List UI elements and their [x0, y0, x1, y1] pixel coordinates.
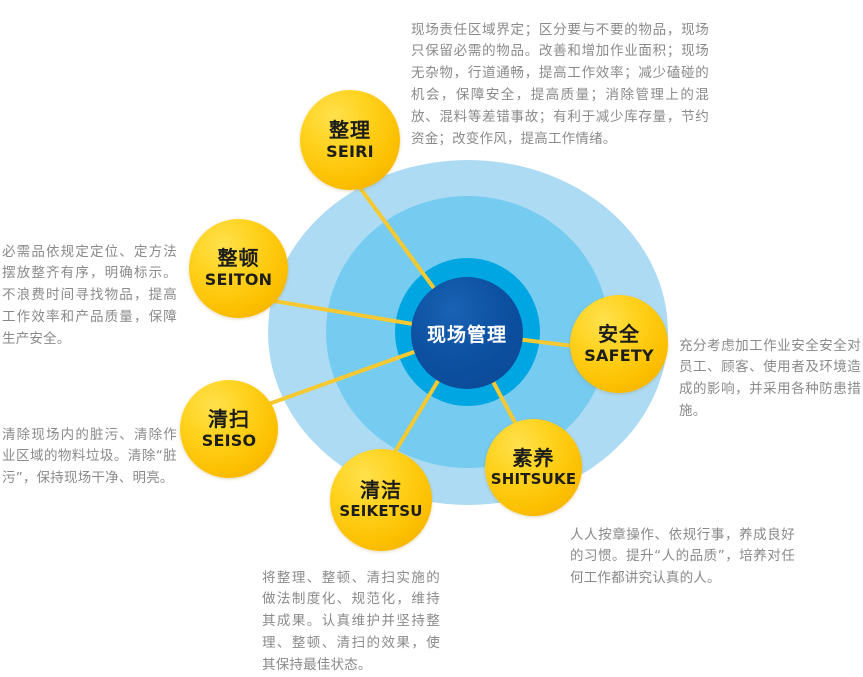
- node-seiso[interactable]: 清扫 SEISO: [180, 380, 278, 478]
- node-seiri-en-label: SEIRI: [326, 143, 374, 161]
- node-seiso-cn-label: 清扫: [208, 409, 250, 431]
- node-seiton-cn-label: 整顿: [218, 248, 260, 270]
- node-seiso-en-label: SEISO: [202, 432, 257, 450]
- node-seiton-en-label: SEITON: [205, 271, 273, 289]
- node-seiri[interactable]: 整理 SEIRI: [300, 90, 400, 190]
- center-node-label: 现场管理: [427, 320, 507, 347]
- node-safety-cn-label: 安全: [598, 324, 640, 346]
- node-seiketsu[interactable]: 清洁 SEIKETSU: [330, 449, 432, 551]
- node-shitsuke[interactable]: 素养 SHITSUKE: [485, 419, 582, 516]
- node-safety[interactable]: 安全 SAFETY: [570, 295, 668, 393]
- diagram-canvas: 现场管理 整理 SEIRI 整顿 SEITON 清扫 SEISO 清洁 SEIK…: [0, 0, 863, 675]
- node-safety-en-label: SAFETY: [584, 347, 653, 365]
- node-seiketsu-cn-label: 清洁: [360, 480, 402, 502]
- center-node-site-management[interactable]: 现场管理: [411, 277, 523, 389]
- node-seiketsu-en-label: SEIKETSU: [339, 503, 422, 520]
- node-shitsuke-en-label: SHITSUKE: [491, 471, 577, 488]
- node-shitsuke-cn-label: 素养: [513, 448, 555, 470]
- node-seiri-cn-label: 整理: [329, 120, 371, 142]
- node-seiton[interactable]: 整顿 SEITON: [189, 219, 288, 318]
